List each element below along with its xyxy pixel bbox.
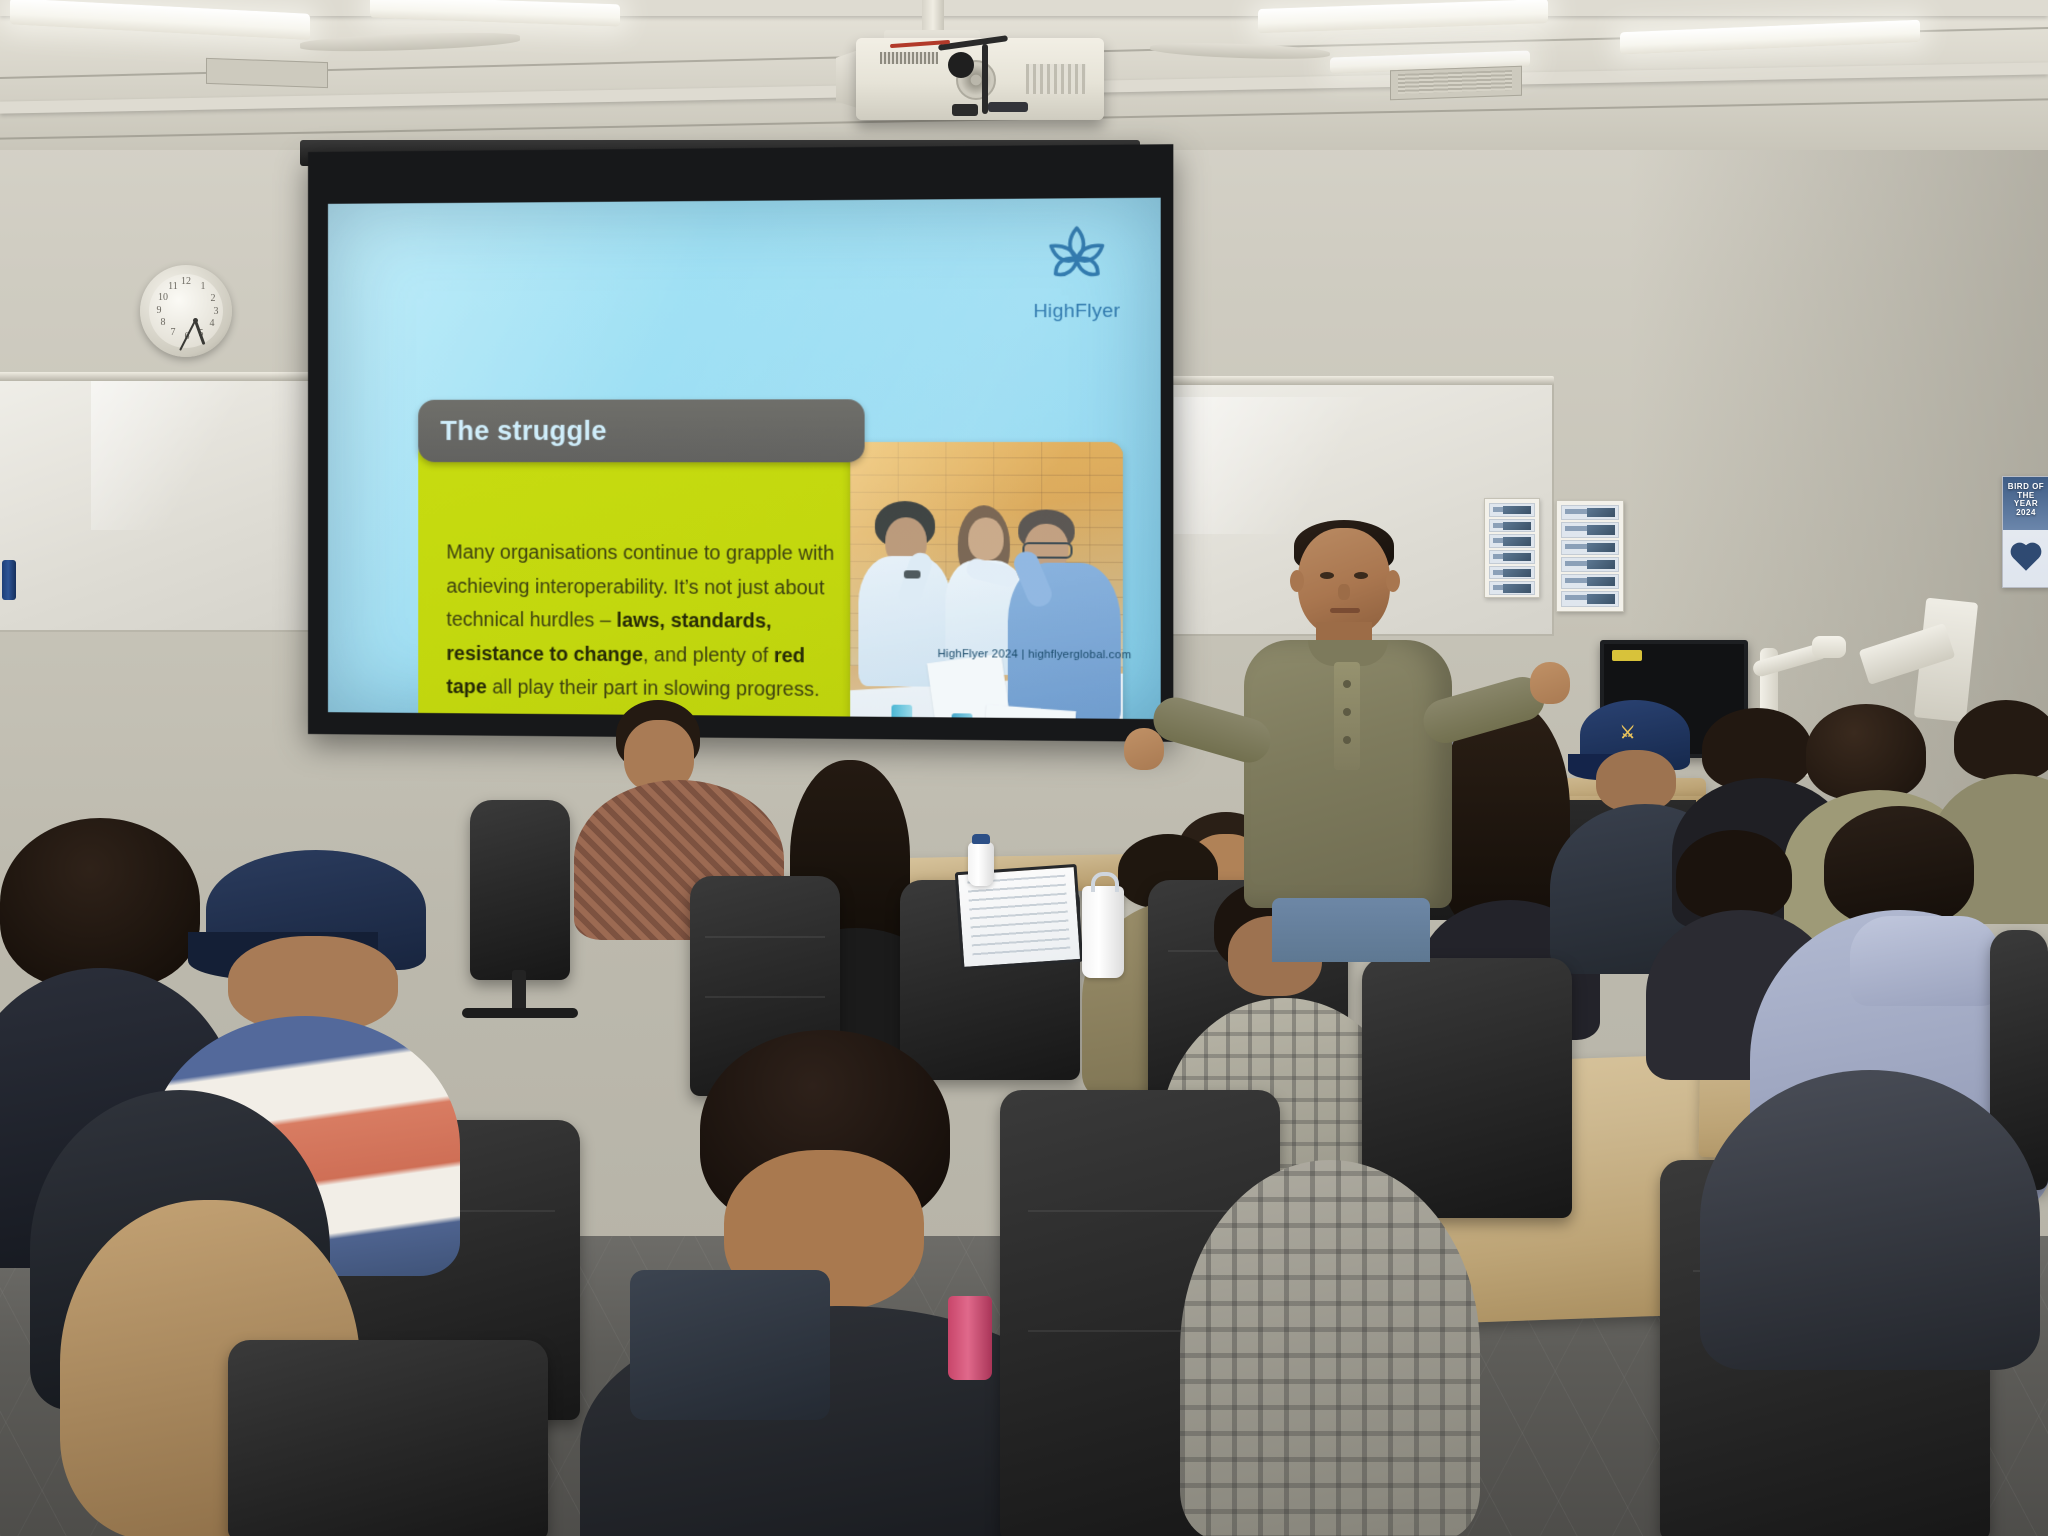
chair-post (512, 970, 526, 1012)
whiteboard-left (0, 378, 324, 632)
presenter-shirt-button (1343, 736, 1351, 744)
chair-base (462, 1008, 578, 1018)
bird-of-the-year-poster: BIRD OF THE YEAR 2024 (2002, 476, 2048, 588)
whiteboard-rail (0, 372, 330, 381)
ceiling-vent (206, 58, 328, 88)
slide-footer: HighFlyer 2024 | highflyerglobal.com (938, 648, 1132, 662)
projector-vent (880, 52, 938, 64)
bottle-cap (972, 834, 990, 844)
shoulders (1700, 1070, 2040, 1370)
cap-logo-icon: ⚔ (1620, 724, 1635, 741)
backpack (630, 1270, 830, 1420)
slide-title-bar: The struggle (418, 399, 864, 462)
presenter-eye (1354, 572, 1368, 579)
water-bottle-white[interactable] (1082, 886, 1124, 978)
ceiling-projector (856, 38, 1104, 120)
clock-numeral: 3 (209, 307, 223, 317)
hair (0, 818, 200, 988)
presenter-right-hand (1530, 662, 1570, 704)
chair (470, 800, 570, 980)
slide: HighFlyer Many organisations continue to… (328, 198, 1161, 719)
presenter-ear (1386, 570, 1400, 592)
clock-numeral: 2 (206, 294, 220, 304)
clock-numeral: 9 (152, 306, 166, 316)
whiteboard-marker[interactable] (2, 560, 16, 600)
presenter-shirt-placket (1334, 662, 1360, 770)
presenter-mouth (1330, 608, 1360, 613)
plaid-shirt (1180, 1160, 1480, 1536)
body-seg: all play their part in slowing progress. (487, 676, 820, 701)
whiteboard-rail (1128, 376, 1554, 385)
photo-cup (952, 713, 973, 719)
slide-photo (850, 442, 1123, 719)
clock-numeral: 8 (156, 318, 170, 328)
poster-heart-graphic (2013, 545, 2038, 570)
laptop-document-content (968, 875, 1071, 959)
slide-body-text: Many organisations continue to grapple w… (446, 536, 844, 708)
projector-ports (1026, 64, 1086, 94)
hair (1824, 806, 1974, 926)
bottle-loop (1091, 872, 1119, 892)
water-bottle-pink-floor[interactable] (948, 1296, 992, 1380)
presenter-ear (1290, 570, 1304, 592)
presenter-eye (1320, 572, 1334, 579)
chair (228, 1340, 548, 1536)
projector-cable (982, 44, 988, 114)
highflyer-logo: HighFlyer (1027, 220, 1127, 323)
presenter (1148, 512, 1568, 962)
projector-cable-coil (948, 52, 974, 78)
clock-center-pin (193, 318, 198, 323)
presenter-shirt-button (1343, 680, 1351, 688)
monitor-label (1612, 650, 1642, 661)
presenter-trousers (1272, 898, 1430, 962)
wall-clock: 12 1 2 3 4 5 6 7 8 9 10 11 (140, 265, 232, 357)
hair (1954, 700, 2048, 780)
poster-title: BIRD OF THE YEAR 2024 (2003, 483, 2048, 518)
classroom-photo: 12 1 2 3 4 5 6 7 8 9 10 11 (0, 0, 2048, 1536)
projector-mount-pole (922, 0, 944, 34)
hood (1850, 916, 2000, 1006)
hair (1676, 830, 1792, 920)
slide-body-card: Many organisations continue to grapple w… (418, 436, 866, 719)
ceiling-vent-grill (1398, 70, 1512, 94)
poster-title-line: 2024 (2003, 509, 2048, 518)
projector-connector (988, 102, 1028, 112)
presenter-left-hand (1124, 728, 1164, 770)
logo-wordmark: HighFlyer (1027, 300, 1127, 323)
presenter-head (1298, 528, 1390, 636)
whiteboard-glare (91, 380, 273, 530)
head (1596, 750, 1676, 812)
hair (1806, 704, 1926, 800)
presenter-nose (1338, 584, 1350, 600)
clock-numeral: 7 (166, 328, 180, 338)
clock-numeral: 1 (196, 282, 210, 292)
water-bottle-small[interactable] (968, 842, 994, 886)
slide-title: The struggle (418, 415, 607, 446)
body-seg: , and plenty of (643, 644, 774, 667)
clock-numeral: 12 (179, 277, 193, 287)
projection-screen: HighFlyer Many organisations continue to… (308, 144, 1173, 742)
poster-title-line: BIRD OF THE (2003, 483, 2048, 500)
clock-numeral: 11 (166, 282, 180, 292)
presenter-shirt-button (1343, 708, 1351, 716)
clock-numeral: 10 (156, 293, 170, 303)
photo-cup (891, 705, 912, 719)
projector-connector (952, 104, 978, 116)
lotus-flower-icon (1039, 221, 1114, 295)
clock-face: 12 1 2 3 4 5 6 7 8 9 10 11 (149, 274, 223, 348)
clock-numeral: 4 (205, 319, 219, 329)
document-camera-head (1812, 636, 1846, 658)
poster-rows (1561, 505, 1619, 607)
